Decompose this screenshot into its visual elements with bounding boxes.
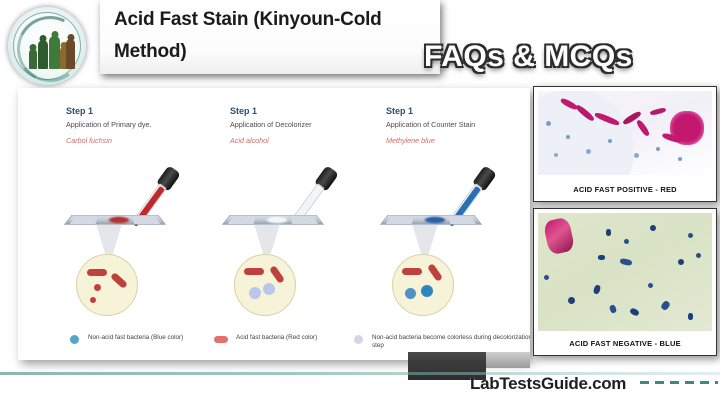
logo-figure-2 — [38, 40, 48, 69]
acid-fast-bacillus — [594, 111, 620, 126]
slide-frost-left — [386, 216, 414, 224]
background-speck — [634, 153, 639, 158]
bacteria-rod — [402, 268, 422, 275]
bacteria-dot — [90, 297, 96, 303]
legend-item: Non-acid fast bacteria (Blue color) — [70, 334, 198, 342]
acid-fast-bacillus — [575, 104, 596, 123]
background-speck — [568, 297, 575, 304]
micrograph-caption: ACID FAST NEGATIVE - BLUE — [538, 335, 712, 352]
legend-label: Acid fast bacteria (Red color) — [236, 334, 346, 342]
slide-frost-right — [290, 216, 318, 224]
background-speck — [546, 121, 551, 126]
acid-fast-bacillus — [635, 119, 650, 137]
step-reagent: Methylene blue — [386, 136, 530, 145]
logo-figure-3 — [49, 36, 60, 69]
logo-figure-5 — [66, 39, 75, 69]
slide-frost-right — [132, 216, 160, 224]
legend-swatch-circle-icon — [70, 335, 79, 344]
step-description: Application of Primary dye. — [66, 120, 216, 129]
legend-item: Non-acid bacteria become colorless durin… — [354, 334, 530, 350]
slide-smear — [109, 217, 130, 224]
background-speck — [586, 149, 591, 154]
background-speck — [544, 275, 549, 280]
background-speck — [660, 300, 671, 311]
slide-frost-left — [70, 216, 98, 224]
background-speck — [608, 139, 612, 143]
background-speck — [688, 313, 693, 320]
bacteria-rod — [269, 265, 285, 284]
dropper-illustration-1 — [60, 160, 220, 246]
background-speck — [606, 229, 611, 236]
background-speck — [688, 233, 693, 238]
acid-fast-positive-micrograph: ACID FAST POSITIVE - RED — [533, 86, 717, 202]
microscopy-field-3 — [392, 254, 454, 316]
lab-tests-guide-logo — [8, 7, 86, 85]
logo-figure-1 — [29, 49, 37, 69]
footer-dashes — [640, 381, 718, 384]
stain-procedure-card: Step 1 Application of Primary dye. Carbo… — [18, 88, 530, 360]
background-speck — [624, 239, 629, 244]
site-brand: LabTestsGuide.com — [470, 374, 626, 394]
legend-label: Non-acid fast bacteria (Blue color) — [88, 334, 198, 342]
bacteria-rod — [87, 269, 107, 276]
page-title: Acid Fast Stain (Kinyoun-Cold Method) — [114, 4, 434, 68]
background-speck — [554, 153, 558, 157]
legend-swatch-rod-icon — [214, 336, 228, 343]
dropper-illustration-3 — [376, 160, 530, 246]
background-speck — [696, 253, 701, 258]
microscopy-field-1 — [76, 254, 138, 316]
background-speck — [620, 258, 633, 266]
faq-mcq-banner: FAQs & MCQs — [424, 40, 633, 74]
micrograph-image — [538, 91, 712, 175]
background-speck — [656, 147, 660, 151]
background-speck — [678, 259, 684, 265]
step-heading: Step 1 — [230, 106, 380, 116]
background-speck — [648, 283, 653, 288]
screenshot-canvas: Acid Fast Stain (Kinyoun-Cold Method) FA… — [0, 0, 720, 404]
background-speck — [678, 157, 682, 161]
background-speck — [609, 304, 617, 314]
step-heading: Step 1 — [386, 106, 530, 116]
legend-item: Acid fast bacteria (Red color) — [214, 334, 346, 342]
step-reagent: Acid alcohol — [230, 136, 380, 145]
step-description: Application of Counter Stain — [386, 120, 530, 129]
step-column-3: Step 1 Application of Counter Stain Meth… — [386, 106, 530, 145]
footer-shadow-block-secondary — [486, 352, 530, 368]
legend-swatch-circle-icon — [354, 335, 363, 344]
micrograph-image — [538, 213, 712, 331]
decolorized-dot — [263, 283, 275, 295]
slide-smear — [425, 217, 446, 224]
background-speck — [593, 284, 601, 294]
acid-fast-bacillus-cluster — [543, 217, 576, 256]
microscopy-field-2 — [234, 254, 296, 316]
slide-frost-right — [448, 216, 476, 224]
acid-fast-bacillus — [650, 107, 667, 116]
background-speck — [629, 307, 640, 317]
background-speck — [598, 255, 605, 260]
bacteria-rod — [244, 268, 264, 275]
dropper-illustration-2 — [218, 160, 378, 246]
title-panel: Acid Fast Stain (Kinyoun-Cold Method) — [100, 0, 440, 74]
slide-smear — [267, 217, 288, 224]
legend-label: Non-acid bacteria become colorless durin… — [372, 334, 530, 350]
bacteria-dot — [94, 284, 101, 291]
step-description: Application of Decolorizer — [230, 120, 380, 129]
background-speck — [566, 135, 570, 139]
background-speck — [650, 225, 656, 231]
step-heading: Step 1 — [66, 106, 216, 116]
step-reagent: Carbol fuchsin — [66, 136, 216, 145]
decolorized-dot — [249, 287, 261, 299]
counterstained-dot — [405, 288, 416, 299]
bacteria-rod — [427, 263, 443, 282]
step-column-2: Step 1 Application of Decolorizer Acid a… — [230, 106, 380, 145]
micrograph-caption: ACID FAST POSITIVE - RED — [538, 181, 712, 198]
step-column-1: Step 1 Application of Primary dye. Carbo… — [66, 106, 216, 145]
counterstained-dot — [421, 285, 433, 297]
acid-fast-negative-micrograph: ACID FAST NEGATIVE - BLUE — [533, 208, 717, 356]
slide-frost-left — [228, 216, 256, 224]
bacteria-rod — [110, 272, 128, 289]
